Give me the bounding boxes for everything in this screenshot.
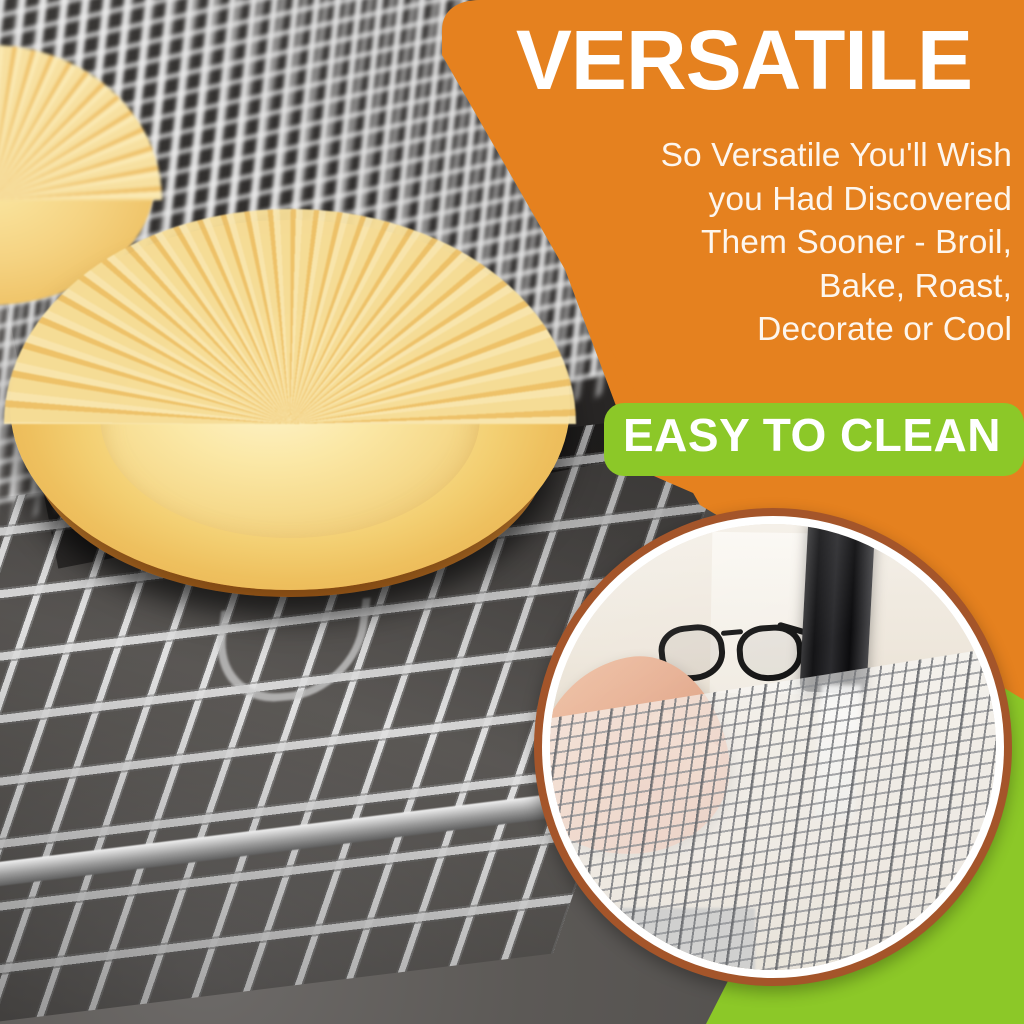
inset-photo-content [550, 524, 996, 970]
status-badge: EASY TO CLEAN [612, 412, 1012, 458]
inset-photo-circle [534, 508, 1012, 986]
product-infographic: VERSATILE So Versatile You'll Wish you H… [0, 0, 1024, 1024]
